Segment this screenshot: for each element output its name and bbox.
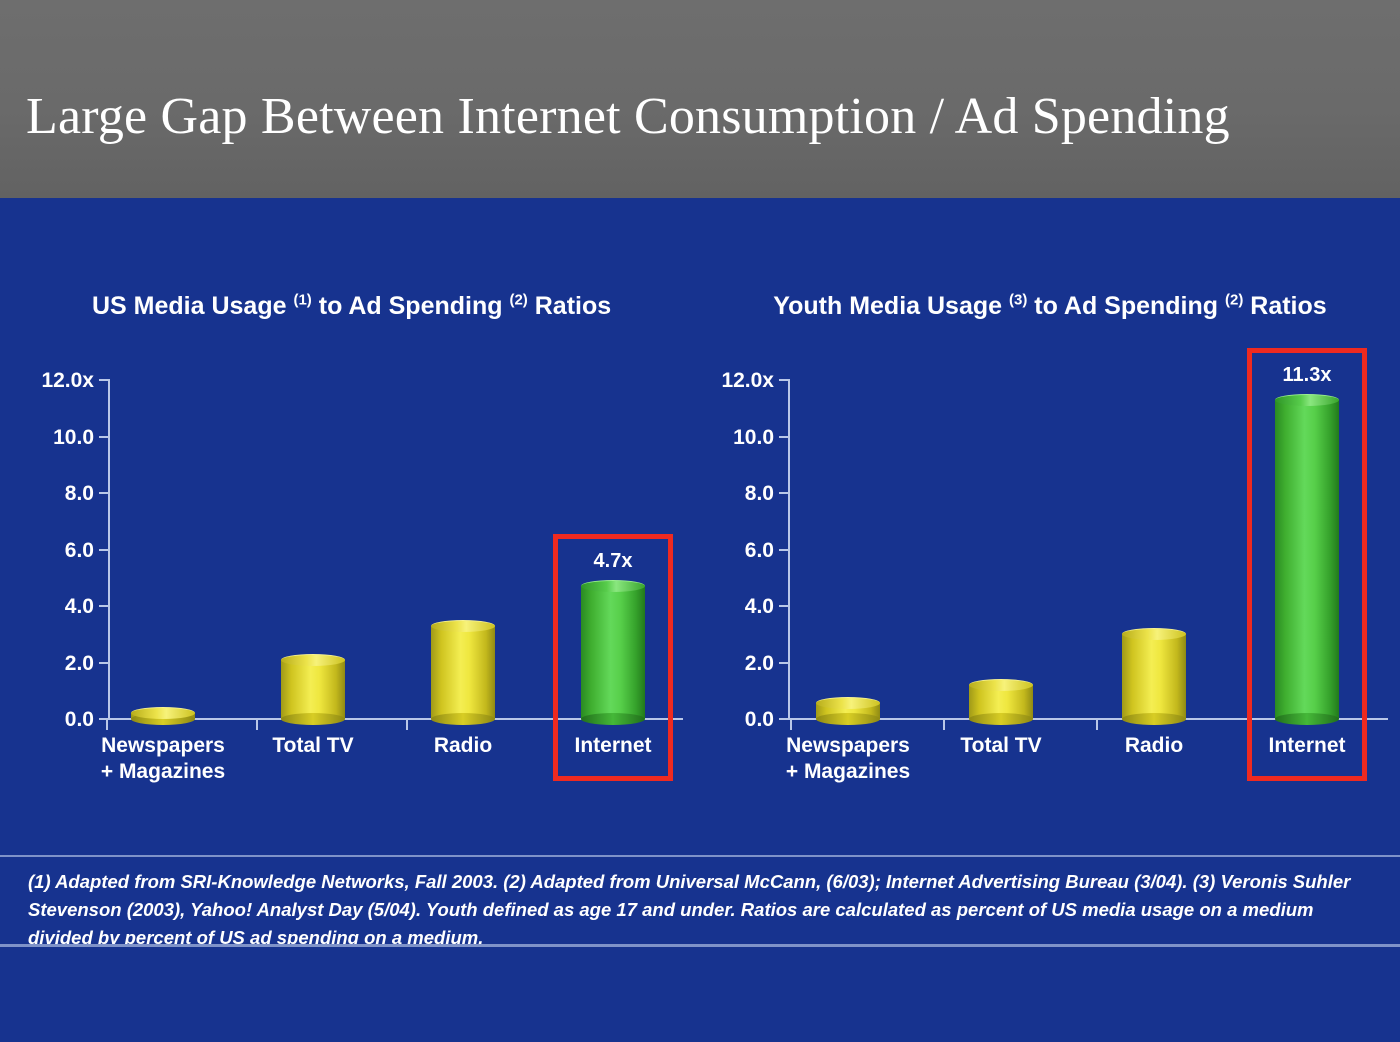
y-axis-tick: [99, 662, 110, 664]
bar-internet[interactable]: [1275, 394, 1339, 719]
x-axis-tick: [1249, 718, 1251, 730]
y-axis-tick: [779, 436, 790, 438]
chart-title-youth-part-c: Ratios: [1243, 292, 1326, 320]
y-axis-tick: [779, 379, 790, 381]
y-axis-tick: [779, 662, 790, 664]
bar-radio[interactable]: [1122, 628, 1186, 719]
x-axis-tick: [1096, 718, 1098, 730]
footnote-divider-top: [0, 855, 1400, 857]
y-axis-tick: [99, 379, 110, 381]
bar-total-tv[interactable]: [969, 679, 1033, 719]
y-axis-tick: [99, 492, 110, 494]
bar-newspapers-magazines[interactable]: [816, 697, 880, 719]
y-axis-label: 4.0: [745, 595, 774, 619]
y-axis-tick: [779, 492, 790, 494]
chart-title-youth-part-b: to Ad Spending: [1027, 292, 1225, 320]
y-axis-label: 4.0: [65, 595, 94, 619]
y-axis-label: 0.0: [745, 708, 774, 732]
x-axis-tick: [943, 718, 945, 730]
bar-radio[interactable]: [431, 620, 495, 719]
y-axis-label: 10.0: [733, 426, 774, 450]
category-label-line: Internet: [1212, 733, 1400, 759]
chart-title-us-footnote-1: (1): [293, 292, 311, 309]
chart-title-youth-part-a: Youth Media Usage: [773, 292, 1009, 320]
bar-value-label: 4.7x: [543, 550, 683, 573]
category-label-line: Internet: [518, 733, 708, 759]
x-axis-tick: [406, 718, 408, 730]
y-axis-tick: [99, 436, 110, 438]
chart-title-youth: Youth Media Usage (3) to Ad Spending (2)…: [720, 290, 1380, 324]
slide-canvas: Large Gap Between Internet Consumption /…: [0, 0, 1400, 1042]
y-axis-tick: [99, 718, 110, 720]
y-axis-label: 2.0: [745, 652, 774, 676]
y-axis-label: 6.0: [65, 539, 94, 563]
chart-us-media-usage: US Media Usage (1) to Ad Spending (2) Ra…: [0, 198, 700, 838]
chart-youth-media-usage: Youth Media Usage (3) to Ad Spending (2)…: [700, 198, 1400, 838]
chart-title-us: US Media Usage (1) to Ad Spending (2) Ra…: [92, 290, 672, 324]
chart-title-youth-footnote-2: (2): [1225, 292, 1243, 309]
bar-value-label: 11.3x: [1237, 364, 1377, 387]
chart-title-us-part-c: Ratios: [528, 292, 611, 320]
y-axis-label: 12.0x: [721, 369, 774, 393]
x-axis-tick: [556, 718, 558, 730]
y-axis-label: 2.0: [65, 652, 94, 676]
plot-area-us: 12.0x10.08.06.04.02.00.04.7x: [108, 373, 683, 733]
y-axis-tick: [99, 549, 110, 551]
y-axis-label: 12.0x: [41, 369, 94, 393]
x-axis-tick: [106, 718, 108, 730]
footnote-text: (1) Adapted from SRI-Knowledge Networks,…: [28, 868, 1373, 951]
chart-title-us-footnote-2: (2): [509, 292, 527, 309]
y-axis-label: 8.0: [65, 482, 94, 506]
page-title: Large Gap Between Internet Consumption /…: [26, 90, 1386, 145]
y-axis-tick: [99, 605, 110, 607]
x-axis-tick: [790, 718, 792, 730]
bar-internet[interactable]: [581, 580, 645, 719]
plot-area-youth: 12.0x10.08.06.04.02.00.011.3x: [788, 373, 1388, 733]
category-label-line: + Magazines: [753, 759, 943, 785]
x-axis-category-label: Internet: [1212, 733, 1400, 759]
y-axis-label: 10.0: [53, 426, 94, 450]
y-axis-label: 8.0: [745, 482, 774, 506]
slide-body: US Media Usage (1) to Ad Spending (2) Ra…: [0, 198, 1400, 946]
y-axis-tick: [779, 549, 790, 551]
y-axis-tick: [779, 718, 790, 720]
y-axis-tick: [779, 605, 790, 607]
chart-title-us-part-b: to Ad Spending: [312, 292, 510, 320]
slide-footer: MorganStanley 43 Yourseeker: [0, 947, 1400, 1042]
category-label-line: + Magazines: [68, 759, 258, 785]
y-axis-label: 6.0: [745, 539, 774, 563]
x-axis-category-label: Internet: [518, 733, 708, 759]
chart-title-youth-footnote-3: (3): [1009, 292, 1027, 309]
chart-title-us-part-a: US Media Usage: [92, 292, 293, 320]
bar-newspapers-magazines[interactable]: [131, 707, 195, 719]
slide-header: Large Gap Between Internet Consumption /…: [0, 0, 1400, 198]
bar-total-tv[interactable]: [281, 654, 345, 719]
y-axis-label: 0.0: [65, 708, 94, 732]
x-axis-tick: [256, 718, 258, 730]
